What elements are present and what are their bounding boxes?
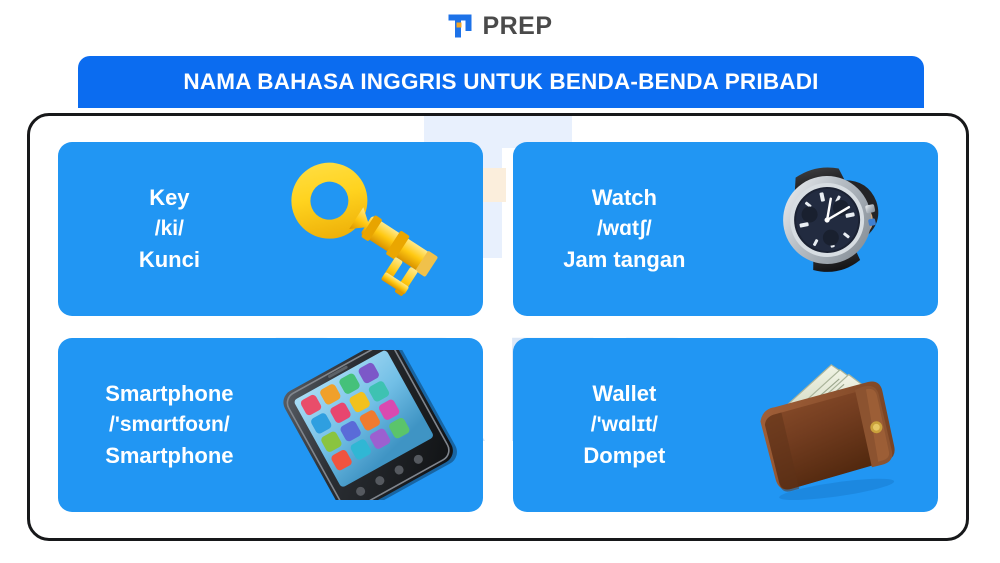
brand-bar: PREP	[0, 0, 1000, 52]
vocab-card-smartphone[interactable]: Smartphone /'smɑrtfoʊn/ Smartphone	[58, 338, 483, 512]
smartphone-image	[267, 338, 480, 512]
vocab-ipa: /'smɑrtfoʊn/	[64, 410, 275, 440]
brand-name: PREP	[482, 14, 552, 39]
vocab-card-key-text: Key /ki/ Kunci	[58, 182, 275, 276]
vocab-word: Wallet	[519, 378, 730, 410]
golden-key-image	[267, 142, 480, 316]
wristwatch-image	[722, 142, 935, 316]
vocab-word: Key	[64, 182, 275, 214]
vocab-card-watch[interactable]: Watch /wɑtʃ/ Jam tangan	[513, 142, 938, 316]
prep-logo-icon	[447, 13, 473, 39]
vocab-word: Smartphone	[64, 378, 275, 410]
vocab-ipa: /'wɑlɪt/	[519, 410, 730, 440]
vocab-card-wallet[interactable]: Wallet /'wɑlɪt/ Dompet	[513, 338, 938, 512]
vocab-card-watch-text: Watch /wɑtʃ/ Jam tangan	[513, 182, 730, 276]
vocab-meaning: Jam tangan	[519, 244, 730, 276]
vocab-card-wallet-text: Wallet /'wɑlɪt/ Dompet	[513, 378, 730, 472]
vocab-ipa: /wɑtʃ/	[519, 214, 730, 244]
vocab-ipa: /ki/	[64, 214, 275, 244]
wallet-image	[722, 338, 935, 512]
title-banner: NAMA BAHASA INGGRIS UNTUK BENDA-BENDA PR…	[78, 56, 924, 108]
vocab-card-key[interactable]: Key /ki/ Kunci	[58, 142, 483, 316]
vocab-meaning: Kunci	[64, 244, 275, 276]
vocab-word: Watch	[519, 182, 730, 214]
vocab-meaning: Smartphone	[64, 440, 275, 472]
page-title: NAMA BAHASA INGGRIS UNTUK BENDA-BENDA PR…	[183, 69, 818, 95]
vocab-meaning: Dompet	[519, 440, 730, 472]
vocab-card-smartphone-text: Smartphone /'smɑrtfoʊn/ Smartphone	[58, 378, 275, 472]
vocabulary-card-grid: Key /ki/ Kunci	[30, 116, 966, 538]
